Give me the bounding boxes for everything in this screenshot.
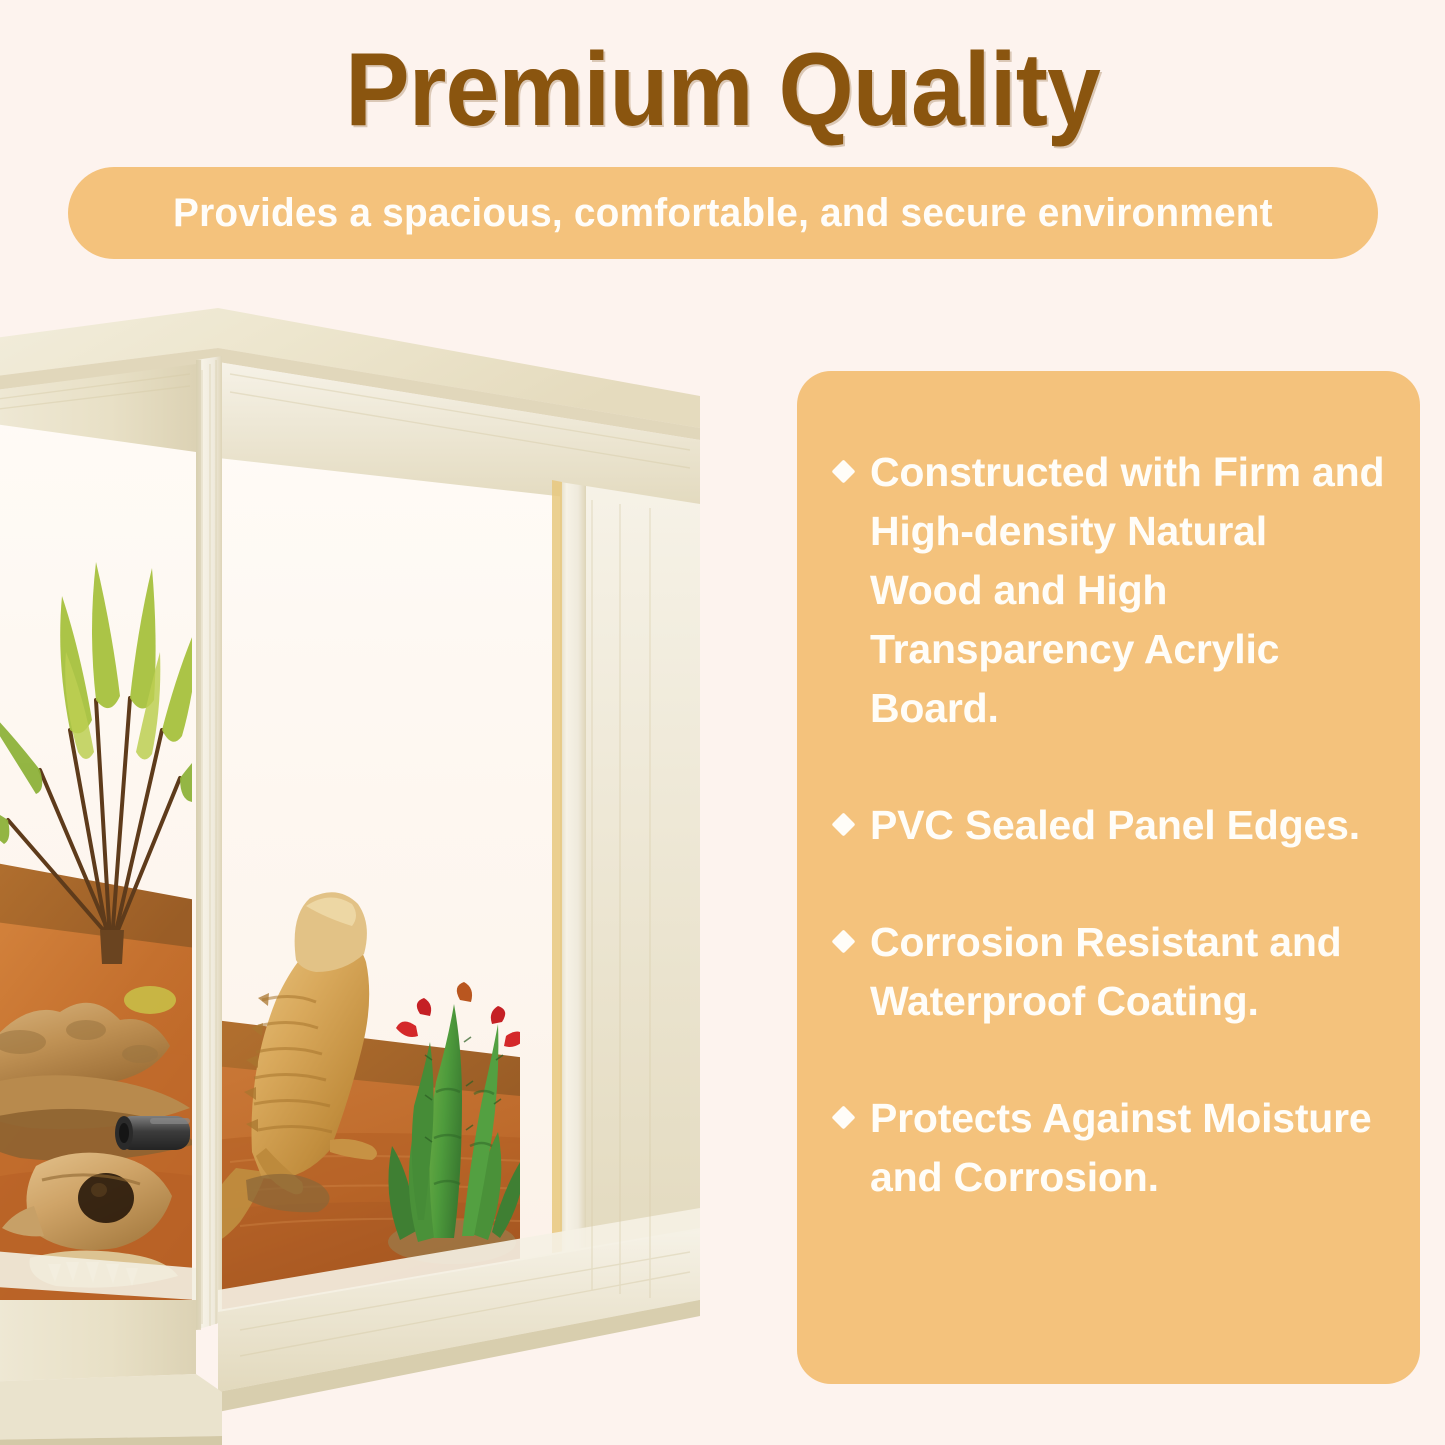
diamond-bullet-icon	[831, 929, 855, 953]
feature-item-3: Corrosion Resistant and Waterproof Coati…	[833, 913, 1390, 1031]
diamond-bullet-icon	[831, 812, 855, 836]
subtitle-banner: Provides a spacious, comfortable, and se…	[68, 167, 1378, 259]
wood-post-shadow	[196, 360, 201, 1330]
page-title: Premium Quality	[51, 34, 1395, 146]
product-photo	[0, 300, 700, 1445]
wood-right-panel	[586, 486, 700, 1304]
wood-right-post	[560, 482, 586, 1296]
subtitle-text: Provides a spacious, comfortable, and se…	[173, 191, 1273, 235]
feature-item-1-label: Constructed with Firm and High-density N…	[870, 443, 1390, 738]
feature-item-1: Constructed with Firm and High-density N…	[833, 443, 1390, 738]
feature-item-4: Protects Against Moisture and Corrosion.	[833, 1089, 1390, 1207]
terrarium-illustration	[0, 300, 700, 1445]
feature-item-2: PVC Sealed Panel Edges.	[833, 796, 1390, 855]
feature-item-4-label: Protects Against Moisture and Corrosion.	[870, 1089, 1390, 1207]
feature-panel: Constructed with Firm and High-density N…	[797, 371, 1420, 1384]
heat-lamp-fitting	[115, 1116, 190, 1150]
pvc-edge-strip	[552, 480, 562, 1292]
feature-item-2-label: PVC Sealed Panel Edges.	[870, 796, 1390, 855]
wood-base-block	[0, 1374, 222, 1440]
diamond-bullet-icon	[831, 1105, 855, 1129]
fern-base	[100, 930, 124, 964]
feature-item-3-label: Corrosion Resistant and Waterproof Coati…	[870, 913, 1390, 1031]
wood-rail-left-bottom	[0, 1300, 196, 1382]
moss-decor	[124, 986, 176, 1014]
diamond-bullet-icon	[831, 459, 855, 483]
